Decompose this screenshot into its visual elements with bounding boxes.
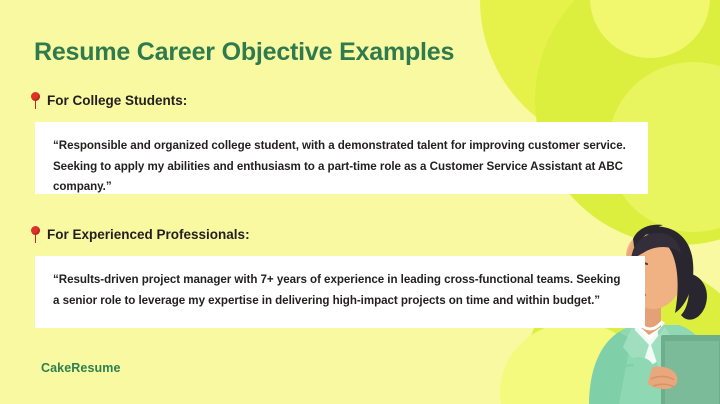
pushpin-icon: [30, 92, 42, 109]
cakeresume-logo: CakeResume: [41, 361, 121, 375]
section-heading-label: For College Students:: [47, 93, 187, 108]
quote-box-college-students: “Responsible and organized college stude…: [35, 122, 648, 194]
slide-canvas: Resume Career Objective Examples For Col…: [0, 0, 720, 404]
quote-box-experienced-professionals: “Results-driven project manager with 7+ …: [35, 256, 645, 328]
section-heading-label: For Experienced Professionals:: [47, 227, 250, 242]
slide-content: Resume Career Objective Examples For Col…: [0, 0, 720, 404]
section-heading-experienced-professionals: For Experienced Professionals:: [30, 226, 250, 243]
pushpin-icon: [30, 226, 42, 243]
section-heading-college-students: For College Students:: [30, 92, 187, 109]
page-title: Resume Career Objective Examples: [34, 38, 454, 67]
